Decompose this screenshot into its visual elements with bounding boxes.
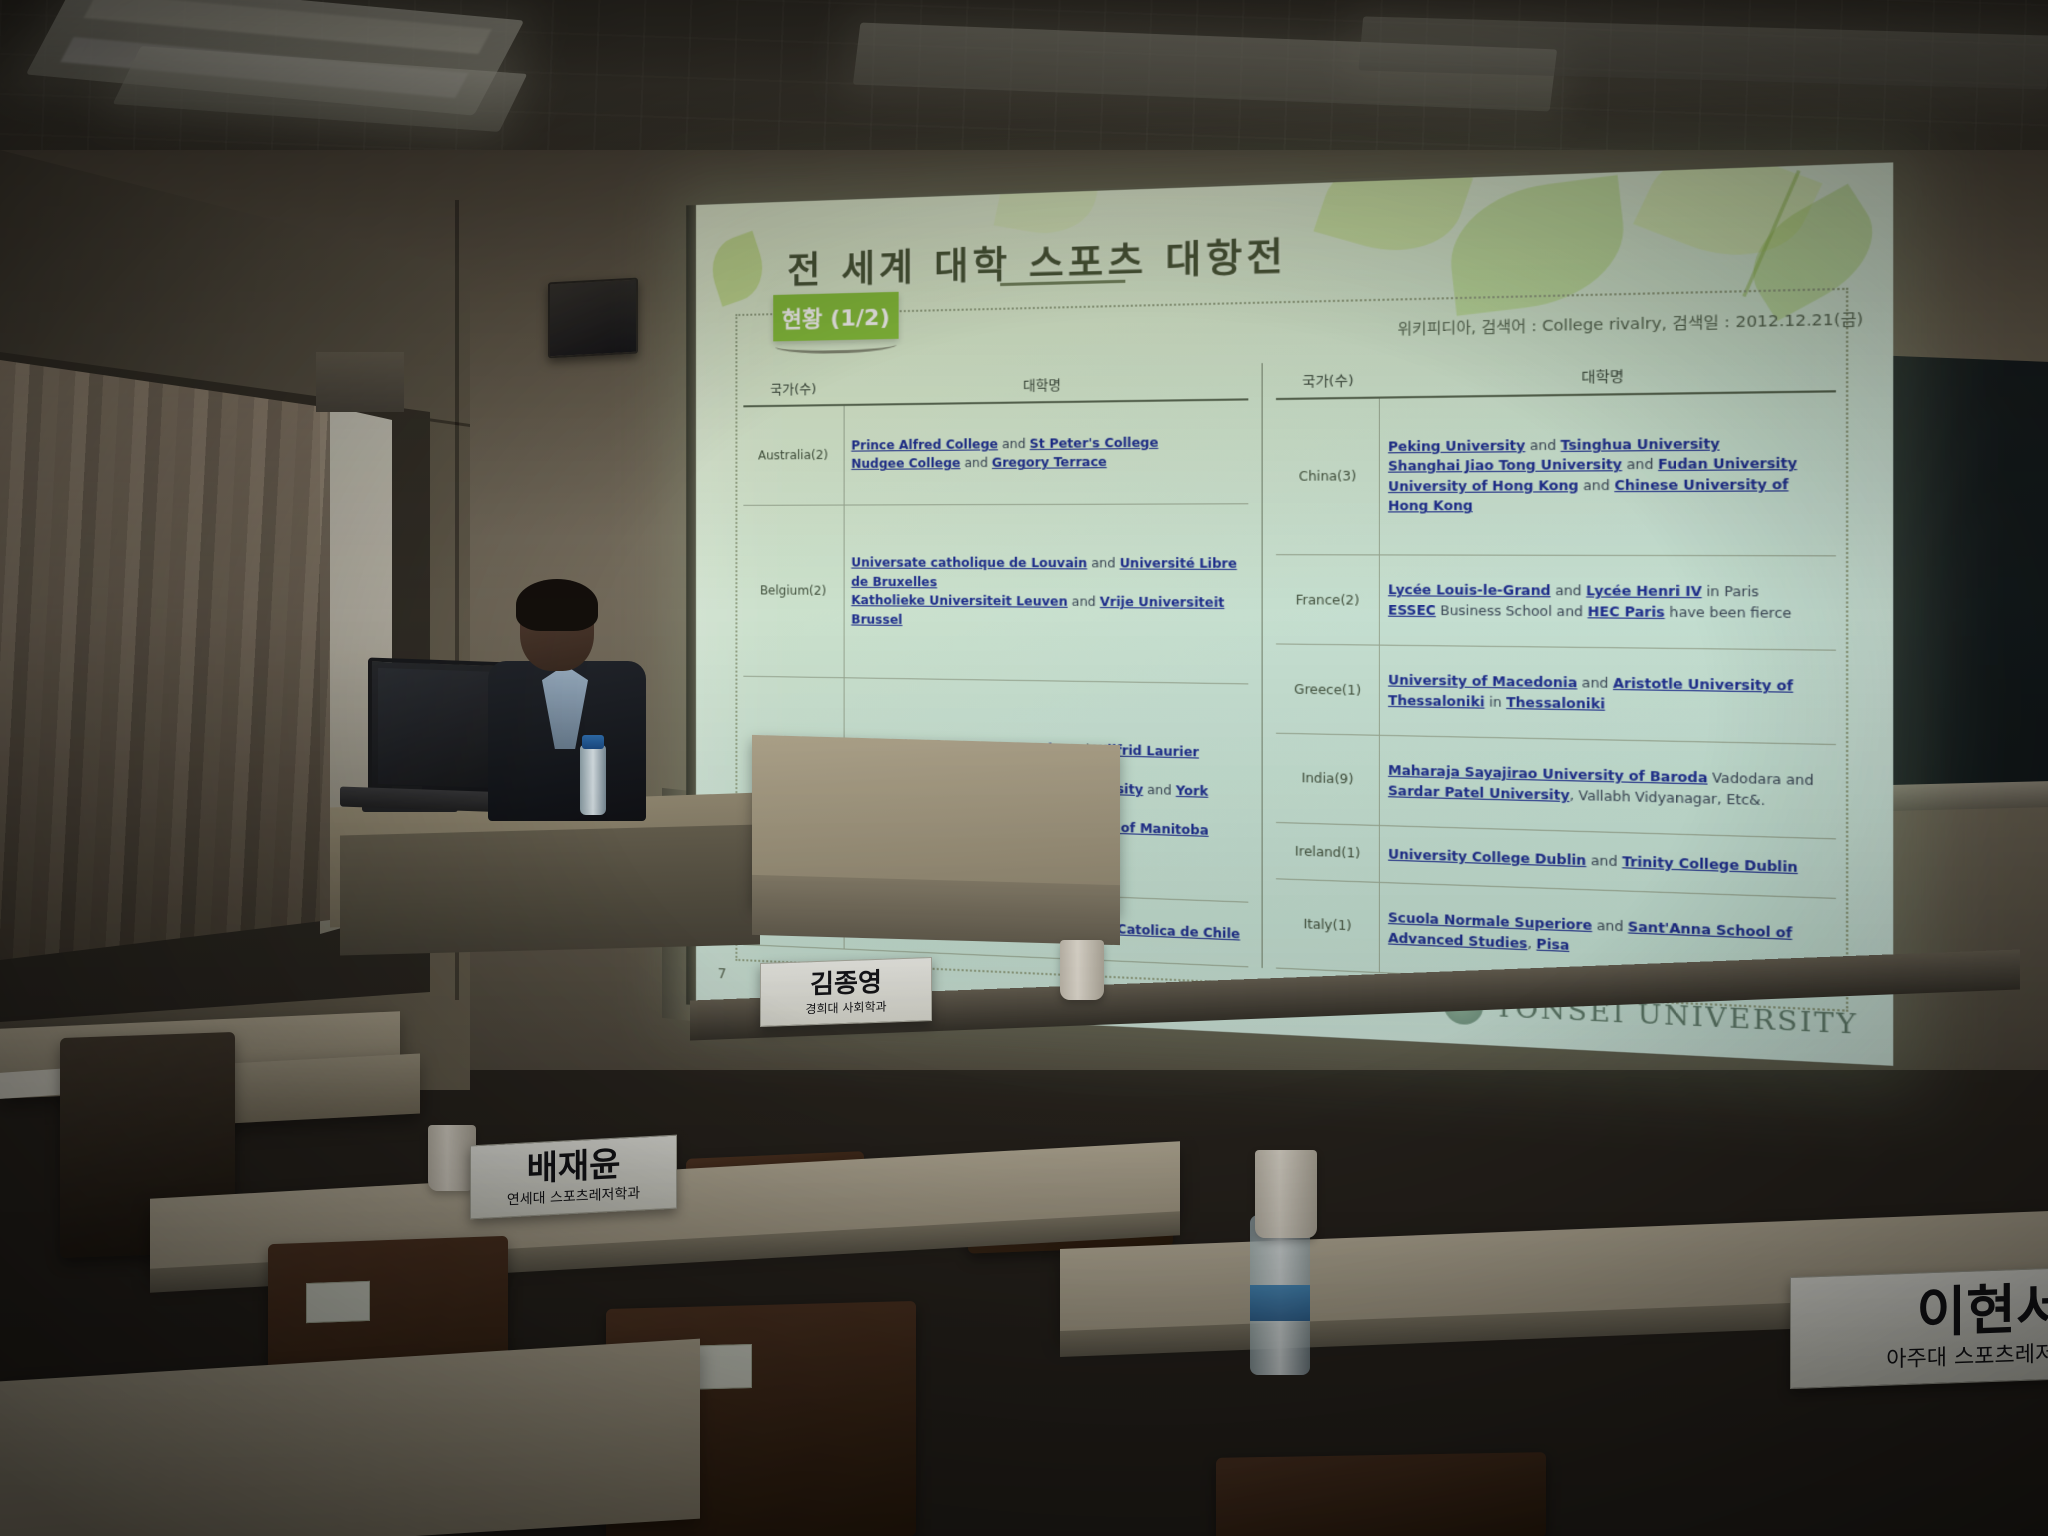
university-link[interactable]: University of Hong Kong — [1388, 478, 1579, 494]
text-fragment: and — [1622, 457, 1658, 473]
university-link[interactable]: Peking University — [1388, 438, 1525, 454]
university-line: Nudgee College and Gregory Terrace — [851, 452, 1241, 474]
cell-country: Australia(2) — [743, 405, 843, 505]
text-fragment: Business School and — [1436, 603, 1588, 619]
university-line: Universate catholique de Louvain and Uni… — [851, 553, 1241, 593]
podium-base — [752, 875, 1120, 945]
university-link[interactable]: Lycée Henri IV — [1586, 584, 1702, 600]
university-line: Lycée Louis-le-Grand and Lycée Henri IV … — [1388, 581, 1827, 604]
bottle-cap — [582, 735, 604, 749]
col-header-country: 국가(수) — [743, 370, 843, 406]
cell-universities: Prince Alfred College and St Peter's Col… — [844, 399, 1249, 505]
projection-screen: 전 세계 대학 스포츠 대항전 현황 (1/2) 위키피디아, 검색어 : Co… — [696, 152, 2048, 1196]
university-link[interactable]: ESSEC — [1388, 603, 1436, 618]
university-link[interactable]: Thessaloniki — [1506, 695, 1605, 712]
cell-universities: Maharaja Sayajirao University of Baroda … — [1380, 736, 1836, 839]
screenshot-root: 전 세계 대학 스포츠 대항전 현황 (1/2) 위키피디아, 검색어 : Co… — [0, 0, 2048, 1536]
text-fragment: have been fierce — [1665, 605, 1792, 622]
university-link[interactable]: St Peter's College — [1030, 435, 1159, 451]
text-fragment: and — [1586, 853, 1622, 870]
text-fragment: and — [1579, 478, 1615, 494]
table-row: Australia(2)Prince Alfred College and St… — [743, 399, 1248, 505]
text-fragment: in — [1485, 694, 1507, 710]
text-fragment: and — [1551, 583, 1587, 599]
university-link[interactable]: Scuola Normale Superiore — [1388, 910, 1592, 933]
university-link[interactable]: Pisa — [1536, 936, 1569, 953]
paper-cup — [428, 1125, 476, 1191]
cell-country: China(3) — [1276, 398, 1379, 556]
university-line: Katholieke Universiteit Leuven and Vrije… — [851, 591, 1241, 633]
col-header-university: 대학명 — [844, 363, 1249, 405]
table-divider — [1262, 363, 1263, 968]
cell-country: France(2) — [1276, 555, 1379, 645]
nameplate-affiliation: 경희대 사회학과 — [805, 1000, 886, 1015]
front-desk-front — [340, 825, 760, 956]
text-fragment: and — [1592, 918, 1628, 935]
nameplate-name: 김종영 — [810, 969, 882, 998]
university-link[interactable]: Prince Alfred College — [851, 437, 998, 453]
text-fragment: , Vallabh Vidyanagar, Etc&. — [1570, 788, 1766, 809]
text-fragment: and — [960, 456, 991, 471]
university-link[interactable]: Sardar Patel University — [1388, 783, 1570, 803]
university-link[interactable]: University of Macedonia — [1388, 673, 1577, 691]
university-link[interactable]: Shanghai Jiao Tong University — [1388, 457, 1622, 474]
text-fragment: in Paris — [1702, 584, 1759, 600]
country-table-right: 국가(수) 대학명 China(3)Peking University and … — [1276, 353, 1835, 993]
university-line: ESSEC Business School and HEC Paris have… — [1388, 600, 1827, 624]
cell-country: Ireland(1) — [1276, 823, 1379, 883]
cell-country: India(9) — [1276, 734, 1379, 826]
monitor-screen — [378, 668, 501, 788]
university-link[interactable]: University College Dublin — [1388, 847, 1586, 869]
table-row: Belgium(2)Universate catholique de Louva… — [743, 504, 1248, 684]
table-row: France(2)Lycée Louis-le-Grand and Lycée … — [1276, 555, 1835, 650]
col-header-university: 대학명 — [1380, 353, 1836, 397]
university-link[interactable]: Universate catholique de Louvain — [851, 556, 1087, 571]
table-row: Greece(1)University of Macedonia and Ari… — [1276, 644, 1835, 745]
chair-sticker — [306, 1281, 370, 1323]
university-link[interactable]: Fudan University — [1658, 456, 1797, 473]
university-link[interactable]: Tsinghua University — [1561, 436, 1720, 453]
university-link[interactable]: Nudgee College — [851, 456, 960, 471]
text-fragment: and — [1577, 675, 1613, 691]
leaf-icon — [704, 231, 772, 307]
cell-country: Greece(1) — [1276, 644, 1379, 735]
university-link[interactable]: Lycée Louis-le-Grand — [1388, 583, 1551, 599]
curtain — [0, 360, 330, 960]
text-fragment: and — [1143, 782, 1176, 798]
text-fragment: and — [1525, 437, 1560, 453]
nameplate-affiliation: 아주대 스포츠레저학과 — [1886, 1342, 2048, 1371]
university-link[interactable]: Gregory Terrace — [992, 455, 1107, 470]
university-line: University of Macedonia and Aristotle Un… — [1388, 671, 1827, 719]
text-fragment: , — [1527, 936, 1536, 952]
table-row: India(9)Maharaja Sayajirao University of… — [1276, 734, 1835, 840]
table-row: China(3)Peking University and Tsinghua U… — [1276, 391, 1835, 556]
country-table-right-body: China(3)Peking University and Tsinghua U… — [1276, 391, 1835, 992]
window-blind — [316, 352, 404, 412]
water-bottle-label — [1250, 1285, 1310, 1321]
university-line: Scuola Normale Superiore and Sant'Anna S… — [1388, 908, 1827, 966]
cell-country: Belgium(2) — [743, 505, 843, 677]
text-fragment: and — [1087, 556, 1119, 571]
university-line: Shanghai Jiao Tong University and Fudan … — [1388, 453, 1827, 476]
nameplate-affiliation: 연세대 스포츠레저학과 — [507, 1187, 640, 1208]
nameplate-name: 이현서 — [1916, 1281, 2048, 1340]
seated-presenter — [490, 585, 640, 815]
section-badge: 현황 (1/2) — [773, 292, 898, 342]
person-hair — [516, 579, 598, 631]
cell-universities: Peking University and Tsinghua Universit… — [1380, 391, 1836, 556]
paper-cup — [1255, 1150, 1317, 1238]
nameplate-bae: 배재윤 연세대 스포츠레저학과 — [470, 1135, 677, 1220]
university-link[interactable]: Trinity College Dublin — [1622, 854, 1798, 875]
wall-speaker — [548, 278, 638, 359]
cell-universities: Lycée Louis-le-Grand and Lycée Henri IV … — [1380, 555, 1836, 650]
nameplate-kim: 김종영 경희대 사회학과 — [760, 957, 932, 1027]
cell-universities: Universate catholique de Louvain and Uni… — [844, 504, 1249, 684]
paper-cup — [1060, 940, 1104, 1000]
foreground-table — [0, 1339, 700, 1536]
nameplate-name: 배재윤 — [527, 1148, 621, 1187]
text-fragment: and — [998, 436, 1030, 451]
cell-universities: University of Macedonia and Aristotle Un… — [1380, 645, 1836, 744]
col-header-country: 국가(수) — [1276, 361, 1379, 399]
text-fragment: and — [1068, 595, 1100, 610]
university-link[interactable]: HEC Paris — [1588, 604, 1665, 620]
university-link[interactable]: Katholieke Universiteit Leuven — [851, 593, 1067, 609]
university-line: University College Dublin and Trinity Co… — [1388, 844, 1827, 879]
chair-foreground-3 — [1216, 1452, 1546, 1536]
nameplate-lee: 이현서 아주대 스포츠레저학과 — [1790, 1263, 2048, 1389]
slide-page-number: 7 — [718, 966, 727, 982]
cell-country: Italy(1) — [1276, 879, 1379, 973]
text-fragment: Vadodara and — [1708, 770, 1814, 788]
university-line: University of Hong Kong and Chinese Univ… — [1388, 474, 1827, 517]
water-bottle — [580, 745, 606, 815]
